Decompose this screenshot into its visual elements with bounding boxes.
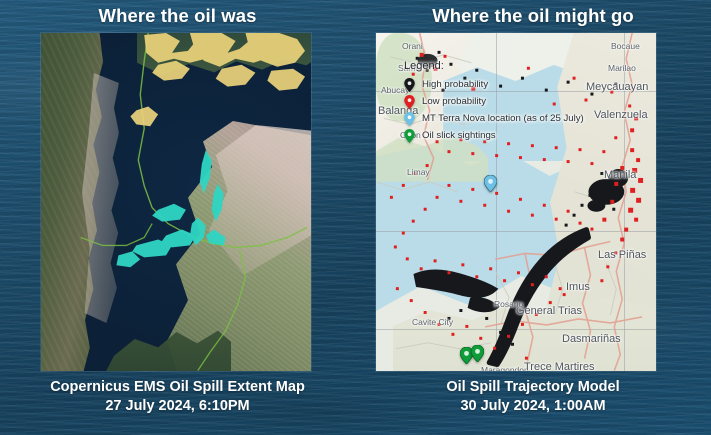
panel-left-title: Where the oil was: [0, 5, 355, 27]
panel-right-caption: Oil Spill Trajectory Model 30 July 2024,…: [355, 378, 711, 416]
legend-item-3: Oil slick sightings: [404, 128, 584, 144]
legend-title: Legend:: [404, 61, 584, 72]
legend-item-label: Low probability: [422, 97, 486, 107]
place-label-las-pi-as: Las Piñas: [598, 249, 646, 261]
place-label-maragondon: Maragondon: [481, 365, 529, 372]
caption-right-line1: Oil Spill Trajectory Model: [355, 378, 711, 397]
satellite-basemap: [41, 33, 311, 371]
map-pin-icon: [404, 95, 415, 109]
place-label-trece-martires: Trece Martires: [524, 361, 595, 372]
caption-left-line2: 27 July 2024, 6:10PM: [0, 397, 355, 416]
oil-slick-streaks: [41, 33, 311, 371]
caption-right-line2: 30 July 2024, 1:00AM: [355, 397, 711, 416]
map-pin-icon: [404, 78, 415, 92]
roadmap-basemap: OraniSamalAbucayBalangaOrionLimayCavite …: [376, 33, 656, 371]
map-pin-icon: [404, 129, 415, 143]
map-pin-icon: [404, 112, 415, 126]
place-label-general-trias: General Trias: [516, 305, 582, 317]
place-label-rosario: Rosario: [494, 299, 523, 309]
legend-item-label: Oil slick sightings: [422, 131, 496, 141]
satellite-map-image[interactable]: [40, 32, 312, 372]
place-label-limay: Limay: [407, 167, 430, 177]
panel-left-caption: Copernicus EMS Oil Spill Extent Map 27 J…: [0, 378, 355, 416]
trajectory-map-image[interactable]: OraniSamalAbucayBalangaOrionLimayCavite …: [375, 32, 657, 372]
place-label-imus: Imus: [566, 281, 590, 293]
place-label-orani: Orani: [402, 41, 423, 51]
place-label-cavite-city: Cavite City: [412, 317, 453, 327]
legend-item-label: High probability: [422, 80, 488, 90]
place-label-dasmari-as: Dasmariñas: [562, 333, 621, 345]
mt-terra-nova-marker[interactable]: [484, 175, 497, 192]
map-legend: Legend: High probabilityLow probabilityM…: [404, 61, 584, 145]
legend-item-label: MT Terra Nova location (as of 25 July): [422, 114, 584, 124]
place-label-manila: Manila: [604, 169, 636, 181]
oil-slick-sighting-marker-2[interactable]: [471, 345, 484, 362]
panel-oil-extent: Where the oil was: [0, 0, 355, 435]
panel-right-title: Where the oil might go: [355, 5, 711, 27]
place-label-meycauayan: Meycauayan: [586, 81, 648, 93]
legend-item-2: MT Terra Nova location (as of 25 July): [404, 111, 584, 127]
caption-left-line1: Copernicus EMS Oil Spill Extent Map: [0, 378, 355, 397]
place-label-marilao: Marilao: [608, 63, 636, 73]
legend-item-0: High probability: [404, 77, 584, 93]
place-label-bocaue: Bocaue: [611, 41, 640, 51]
legend-item-1: Low probability: [404, 94, 584, 110]
panel-trajectory-model: Where the oil might go: [355, 0, 711, 435]
place-label-valenzuela: Valenzuela: [594, 109, 648, 121]
